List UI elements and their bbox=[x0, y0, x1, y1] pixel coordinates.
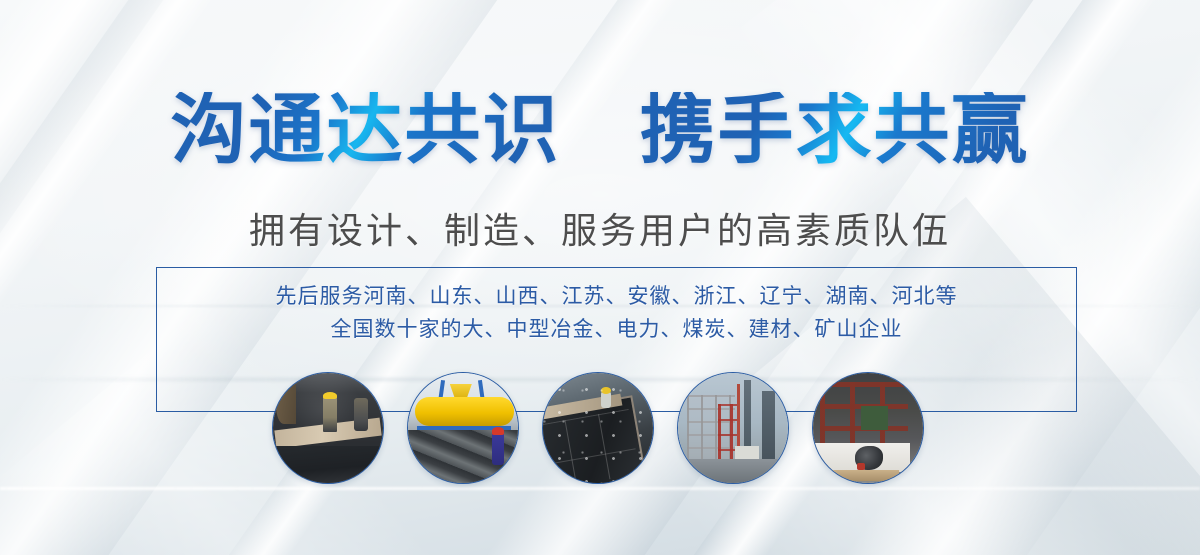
ground-base-shape bbox=[678, 459, 788, 483]
banner-subtitle: 拥有设计、制造、服务用户的高素质队伍 bbox=[0, 202, 1200, 254]
chimney-stack-shape bbox=[762, 391, 775, 461]
steel-panel-shape bbox=[283, 454, 311, 477]
photo-power-plant-structure bbox=[678, 373, 788, 483]
hard-hat-icon bbox=[323, 392, 337, 400]
horizontal-seam-3 bbox=[0, 487, 1200, 490]
photo-steel-duct-module bbox=[543, 373, 653, 483]
photo-circle-3[interactable] bbox=[542, 372, 654, 484]
yellow-tank-shape bbox=[415, 397, 514, 426]
photo-steel-plate-lining bbox=[273, 373, 383, 483]
photo-circle-5[interactable] bbox=[812, 372, 924, 484]
snow-speckle-overlay bbox=[543, 373, 653, 483]
photo-workshop-rack-machine bbox=[813, 373, 923, 483]
hard-hat-icon bbox=[492, 427, 504, 435]
info-box-text: 先后服务河南、山东、山西、江苏、安徽、浙江、辽宁、湖南、河北等 全国数十家的大、… bbox=[156, 280, 1077, 346]
photo-circle-2[interactable] bbox=[407, 372, 519, 484]
headline-phrase-2: 携手求共赢 bbox=[639, 85, 1029, 174]
crane-mast-shape bbox=[737, 384, 740, 452]
photo-circle-4[interactable] bbox=[677, 372, 789, 484]
green-shelf-shape bbox=[861, 406, 887, 430]
worker-figure bbox=[323, 396, 337, 432]
worker-figure-secondary bbox=[354, 398, 367, 431]
photo-yellow-tank-pipes bbox=[408, 373, 518, 483]
photo-circle-1[interactable] bbox=[272, 372, 384, 484]
wood-board-shape bbox=[831, 470, 899, 481]
headline-phrase-1: 沟通达共识 bbox=[171, 85, 561, 174]
tank-rim-shape bbox=[276, 377, 296, 423]
info-box-line-1: 先后服务河南、山东、山西、江苏、安徽、浙江、辽宁、湖南、河北等 bbox=[156, 280, 1077, 313]
banner-headline: 沟通达共识 携手求共赢 bbox=[0, 92, 1200, 168]
worker-figure bbox=[492, 432, 504, 465]
promo-banner: 沟通达共识 携手求共赢 拥有设计、制造、服务用户的高素质队伍 先后服务河南、山东… bbox=[0, 0, 1200, 555]
info-box-line-2: 全国数十家的大、中型冶金、电力、煤炭、建材、矿山企业 bbox=[156, 313, 1077, 346]
red-handle-shape bbox=[857, 463, 865, 470]
